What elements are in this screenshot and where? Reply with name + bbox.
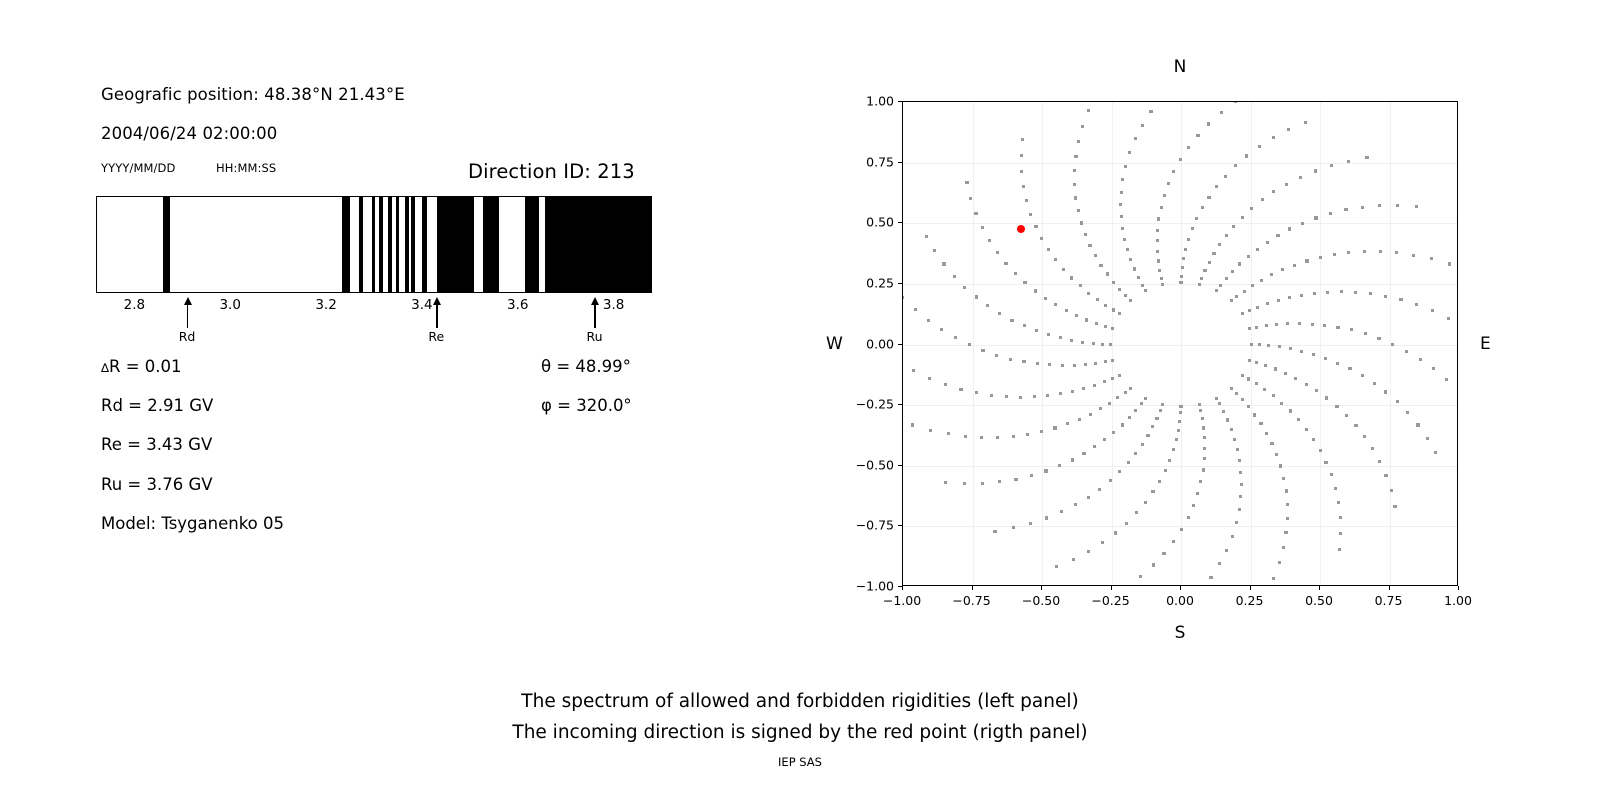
scatter-point — [1319, 256, 1322, 259]
param-delta-r-value: R = 0.01 — [109, 357, 182, 376]
scatter-point — [1301, 222, 1304, 225]
scatter-point — [1036, 362, 1039, 365]
scatter-point — [1195, 217, 1198, 220]
scatter-point — [1282, 477, 1285, 480]
scatter-point — [1109, 479, 1112, 482]
compass-label-north: N — [1174, 57, 1187, 77]
scatter-point — [1141, 284, 1144, 287]
scatter-point — [1085, 318, 1088, 321]
scatter-point — [959, 388, 962, 391]
scatter-point — [1010, 319, 1013, 322]
y-axis-tick-mark — [898, 404, 902, 405]
scatter-point — [1274, 367, 1277, 370]
scatter-point — [1118, 470, 1121, 473]
scatter-point — [1062, 268, 1065, 271]
scatter-point — [1095, 322, 1098, 325]
arrow-up-icon — [433, 297, 441, 305]
scatter-point — [1101, 343, 1104, 346]
spectrum-bar — [96, 196, 652, 293]
scatter-point — [1012, 435, 1015, 438]
spectrum-x-axis: 2.83.03.23.43.63.8RdReRu — [96, 294, 652, 350]
scatter-point — [1119, 203, 1122, 206]
forbidden-band — [422, 197, 427, 292]
scatter-point — [1054, 258, 1057, 261]
scatter-point — [1432, 367, 1435, 370]
scatter-point — [1077, 209, 1080, 212]
arrow-stem — [436, 302, 437, 328]
scatter-point — [1060, 510, 1063, 513]
scatter-point — [1208, 261, 1211, 264]
scatter-point — [1144, 397, 1147, 400]
scatter-point — [1377, 337, 1380, 340]
y-axis-tick-label: −1.00 — [856, 579, 894, 594]
scatter-point — [1235, 392, 1238, 395]
scatter-point — [1311, 323, 1314, 326]
forbidden-band — [545, 197, 652, 292]
scatter-point — [1399, 298, 1402, 301]
scatter-point — [1230, 387, 1233, 390]
forbidden-band — [437, 197, 474, 292]
scatter-point — [964, 435, 967, 438]
scatter-point — [1065, 309, 1068, 312]
scatter-point — [1073, 364, 1076, 367]
scatter-point — [1314, 169, 1317, 172]
scatter-point — [1220, 111, 1223, 114]
scatter-point — [1014, 478, 1017, 481]
scatter-point — [1238, 459, 1241, 462]
scatter-point — [1371, 447, 1374, 450]
scatter-point — [1103, 380, 1106, 383]
scatter-point — [1133, 267, 1136, 270]
scatter-point — [1363, 250, 1366, 253]
spectrum-tick-label: 3.6 — [507, 297, 528, 313]
y-axis-tick-label: −0.75 — [856, 518, 894, 533]
scatter-point — [1089, 413, 1092, 416]
scatter-point — [1448, 262, 1451, 265]
scatter-point — [1445, 378, 1448, 381]
scatter-point — [1239, 471, 1242, 474]
scatter-point — [1181, 266, 1184, 269]
scatter-point — [1384, 390, 1387, 393]
scatter-point — [1175, 438, 1178, 441]
scatter-point — [912, 369, 915, 372]
scatter-point — [1200, 277, 1203, 280]
x-axis-tick-label: 1.00 — [1444, 593, 1472, 608]
x-axis-tick-mark — [1041, 586, 1042, 590]
scatter-point — [1081, 341, 1084, 344]
scatter-point — [1073, 183, 1076, 186]
scatter-point — [1256, 248, 1259, 251]
scatter-point — [1255, 382, 1258, 385]
scatter-point — [1230, 428, 1233, 431]
scatter-point — [1250, 207, 1253, 210]
scatter-point — [1390, 489, 1393, 492]
y-axis-tick-label: −0.25 — [856, 397, 894, 412]
scatter-point — [1361, 374, 1364, 377]
scatter-point — [940, 328, 943, 331]
scatter-point — [1339, 516, 1342, 519]
scatter-point — [929, 429, 932, 432]
scatter-point — [1144, 289, 1147, 292]
scatter-point — [1248, 309, 1251, 312]
scatter-point — [1178, 420, 1181, 423]
scatter-point — [1124, 165, 1127, 168]
scatter-point — [1129, 387, 1132, 390]
scatter-point — [1265, 324, 1268, 327]
arrow-stem — [187, 302, 188, 328]
scatter-point — [1215, 397, 1218, 400]
forbidden-band — [372, 197, 376, 292]
scatter-point — [986, 304, 989, 307]
scatter-point — [996, 436, 999, 439]
scatter-point — [1253, 413, 1256, 416]
scatter-point — [1240, 483, 1243, 486]
y-axis-tick-mark — [898, 465, 902, 466]
date-format-hint: YYYY/MM/DD — [101, 161, 175, 175]
scatter-point — [1415, 303, 1418, 306]
scatter-point — [1304, 121, 1307, 124]
gridline-horizontal — [903, 466, 1457, 467]
scatter-point — [1297, 418, 1300, 421]
compass-label-east: E — [1480, 334, 1491, 354]
scatter-point — [1219, 284, 1222, 287]
scatter-point — [1207, 196, 1210, 199]
scatter-point — [1373, 382, 1376, 385]
forbidden-band — [525, 197, 539, 292]
compass-label-west: W — [826, 334, 843, 354]
scatter-point — [1059, 392, 1062, 395]
scatter-point — [1282, 546, 1285, 549]
forbidden-band — [396, 197, 399, 292]
scatter-point — [1236, 448, 1239, 451]
scatter-point — [1315, 389, 1318, 392]
x-axis-tick-label: 0.00 — [1166, 593, 1194, 608]
scatter-point — [1082, 387, 1085, 390]
scatter-point — [1160, 206, 1163, 209]
scatter-point — [1168, 459, 1171, 462]
scatter-point — [975, 391, 978, 394]
scatter-point — [1071, 458, 1074, 461]
scatter-point — [1104, 360, 1107, 363]
scatter-point — [933, 249, 936, 252]
forbidden-band — [359, 197, 363, 292]
scatter-point — [947, 432, 950, 435]
param-ru: Ru = 3.76 GV — [101, 475, 213, 494]
scatter-point — [1123, 238, 1126, 241]
scatter-point — [1270, 442, 1273, 445]
x-axis-tick-mark — [902, 586, 903, 590]
scatter-point — [1152, 563, 1155, 566]
spectrum-tick-label: 3.8 — [603, 297, 624, 313]
scatter-point — [1272, 394, 1275, 397]
scatter-point — [1198, 283, 1201, 286]
scatter-point — [1156, 239, 1159, 242]
forbidden-band — [411, 197, 414, 292]
scatter-point — [1201, 417, 1204, 420]
x-axis-tick-label: 0.75 — [1375, 593, 1403, 608]
scatter-point — [1066, 422, 1069, 425]
scatter-point — [1289, 409, 1292, 412]
scatter-point — [1179, 411, 1182, 414]
scatter-point — [914, 308, 917, 311]
y-axis-tick-mark — [898, 525, 902, 526]
scatter-point — [1199, 480, 1202, 483]
left-panel: Geografic position: 48.38°N 21.43°E 2004… — [0, 0, 760, 680]
scatter-point — [1305, 428, 1308, 431]
scatter-point — [1151, 425, 1154, 428]
gridline-vertical — [1181, 102, 1182, 585]
scatter-point — [1278, 345, 1281, 348]
incoming-direction-point[interactable] — [1017, 225, 1025, 233]
scatter-point — [1265, 432, 1268, 435]
x-axis-tick-label: 0.50 — [1305, 593, 1333, 608]
scatter-point — [1021, 138, 1024, 141]
spectrum-tick-label: 2.8 — [124, 297, 145, 313]
scatter-point — [1140, 402, 1143, 405]
gridline-horizontal — [903, 345, 1457, 346]
scatter-point — [1022, 185, 1025, 188]
scatter-point — [1234, 101, 1237, 103]
scatter-point — [1034, 289, 1037, 292]
scatter-point — [1226, 418, 1229, 421]
rigidity-marker-ru: Ru — [594, 296, 595, 326]
scatter-point — [975, 295, 978, 298]
scatter-point — [1161, 283, 1164, 286]
scatter-point — [1285, 183, 1288, 186]
scatter-point — [1405, 350, 1408, 353]
scatter-point — [925, 235, 928, 238]
x-axis-tick-label: −0.25 — [1091, 593, 1129, 608]
scatter-point — [1248, 359, 1251, 362]
scatter-point — [1080, 221, 1083, 224]
scatter-point — [1251, 284, 1254, 287]
scatter-point — [988, 239, 991, 242]
scatter-point — [1030, 474, 1033, 477]
scatter-point — [1284, 531, 1287, 534]
scatter-point — [1139, 575, 1142, 578]
scatter-point — [1336, 326, 1339, 329]
scatter-point — [1059, 336, 1062, 339]
scatter-point — [1365, 156, 1368, 159]
marker-label: Ru — [586, 329, 602, 344]
scatter-point — [1233, 438, 1236, 441]
scatter-point — [1096, 298, 1099, 301]
scatter-point — [1155, 417, 1158, 420]
scatter-point — [1256, 306, 1259, 309]
scatter-point — [1231, 270, 1234, 273]
scatter-point — [1187, 146, 1190, 149]
scatter-point — [928, 377, 931, 380]
scatter-point — [1156, 250, 1159, 253]
scatter-point — [1225, 277, 1228, 280]
scatter-point — [1224, 175, 1227, 178]
scatter-point — [1055, 565, 1058, 568]
scatter-point — [1023, 324, 1026, 327]
scatter-point — [1396, 204, 1399, 207]
scatter-point — [1196, 492, 1199, 495]
scatter-point — [1348, 367, 1351, 370]
datetime-text: 2004/06/24 02:00:00 — [101, 124, 277, 143]
scatter-point — [1078, 418, 1081, 421]
scatter-point — [1111, 359, 1114, 362]
scatter-point — [1070, 339, 1073, 342]
scatter-point — [1339, 532, 1342, 535]
param-model: Model: Tsyganenko 05 — [101, 514, 284, 533]
scatter-point — [1361, 206, 1364, 209]
scatter-point — [1276, 234, 1279, 237]
scatter-point — [1087, 496, 1090, 499]
param-delta-r: ∆R = 0.01 — [101, 357, 182, 376]
scatter-point — [1272, 577, 1275, 580]
scatter-point — [1058, 464, 1061, 467]
scatter-point — [1199, 409, 1202, 412]
scatter-point — [1098, 488, 1101, 491]
scatter-point — [1215, 185, 1218, 188]
marker-label: Rd — [179, 329, 196, 344]
scatter-point — [1111, 327, 1114, 330]
scatter-point — [1134, 452, 1137, 455]
scatter-point — [1218, 402, 1221, 405]
scatter-point — [1395, 251, 1398, 254]
scatter-point — [963, 286, 966, 289]
scatter-point — [1129, 258, 1132, 261]
scatter-point — [1125, 522, 1128, 525]
x-axis-tick-mark — [1250, 586, 1251, 590]
figure-caption: The spectrum of allowed and forbidden ri… — [0, 686, 1600, 748]
scatter-point — [1285, 489, 1288, 492]
scatter-point — [1270, 273, 1273, 276]
scatter-point — [1235, 521, 1238, 524]
scatter-point — [1336, 362, 1339, 365]
scatter-point — [1333, 253, 1336, 256]
scatter-point — [1082, 452, 1085, 455]
scatter-point — [1172, 448, 1175, 451]
scatter-point — [1029, 522, 1032, 525]
scatter-point — [1299, 176, 1302, 179]
x-axis-tick-label: −0.75 — [952, 593, 990, 608]
scatter-point — [1378, 204, 1381, 207]
scatter-point — [1434, 451, 1437, 454]
scatter-point — [1012, 526, 1015, 529]
scatter-point — [1266, 241, 1269, 244]
scatter-point — [1072, 558, 1075, 561]
scatter-point — [1112, 281, 1115, 284]
scatter-point — [1426, 437, 1429, 440]
scatter-point — [1275, 323, 1278, 326]
x-axis-tick-mark — [1180, 586, 1181, 590]
scatter-point — [1112, 308, 1115, 311]
scatter-point — [1141, 443, 1144, 446]
scatter-point — [1230, 299, 1233, 302]
scatter-point — [953, 275, 956, 278]
scatter-point — [1047, 333, 1050, 336]
scatter-point — [1101, 541, 1104, 544]
scatter-plot-area — [902, 101, 1458, 586]
scatter-point — [1134, 409, 1137, 412]
compass-label-south: S — [1175, 623, 1186, 643]
scatter-point — [1312, 353, 1315, 356]
scatter-point — [1258, 145, 1261, 148]
scatter-point — [1286, 322, 1289, 325]
scatter-point — [1134, 137, 1137, 140]
scatter-point — [1324, 461, 1327, 464]
scatter-point — [1300, 294, 1303, 297]
scatter-point — [1104, 304, 1107, 307]
scatter-point — [1345, 414, 1348, 417]
scatter-point — [1248, 327, 1251, 330]
caption-line-1: The spectrum of allowed and forbidden ri… — [0, 686, 1600, 717]
x-axis-tick-mark — [1389, 586, 1390, 590]
delta-symbol: ∆ — [101, 361, 109, 375]
scatter-point — [1201, 206, 1204, 209]
y-axis-tick-mark — [898, 162, 902, 163]
scatter-point — [1121, 227, 1124, 230]
scatter-point — [980, 436, 983, 439]
marker-label: Re — [428, 329, 444, 344]
scatter-point — [1108, 402, 1111, 405]
scatter-point — [1261, 198, 1264, 201]
scatter-point — [998, 312, 1001, 315]
scatter-point — [1203, 457, 1206, 460]
scatter-point — [1275, 453, 1278, 456]
scatter-point — [1430, 257, 1433, 260]
scatter-point — [902, 296, 904, 299]
scatter-point — [1158, 480, 1161, 483]
scatter-point — [1287, 128, 1290, 131]
scatter-point — [1266, 302, 1269, 305]
scatter-point — [1124, 294, 1127, 297]
scatter-point — [1289, 347, 1292, 350]
scatter-point — [1009, 358, 1012, 361]
scatter-point — [1419, 358, 1422, 361]
scatter-point — [1354, 291, 1357, 294]
scatter-point — [1172, 540, 1175, 543]
scatter-point — [1084, 233, 1087, 236]
scatter-point — [1167, 182, 1170, 185]
scatter-point — [1187, 238, 1190, 241]
scatter-point — [1264, 364, 1267, 367]
forbidden-band — [388, 197, 392, 292]
rigidity-spectrum-chart — [96, 196, 652, 293]
y-axis-tick-label: 0.75 — [866, 154, 894, 169]
x-axis-tick-mark — [1111, 586, 1112, 590]
scatter-point — [1005, 395, 1008, 398]
caption-line-2: The incoming direction is signed by the … — [0, 717, 1600, 748]
scatter-point — [1004, 262, 1007, 265]
scatter-point — [1118, 374, 1121, 377]
scatter-point — [1022, 360, 1025, 363]
scatter-point — [1350, 328, 1353, 331]
scatter-point — [1144, 501, 1147, 504]
scatter-point — [996, 251, 999, 254]
scatter-point — [1288, 296, 1291, 299]
scatter-point — [1344, 208, 1347, 211]
scatter-point — [1177, 429, 1180, 432]
scatter-point — [1279, 464, 1282, 467]
scatter-point — [1212, 252, 1215, 255]
scatter-point — [1281, 268, 1284, 271]
scatter-point — [1202, 426, 1205, 429]
scatter-point — [981, 482, 984, 485]
scatter-point — [1202, 468, 1205, 471]
scatter-point — [1025, 199, 1028, 202]
arrow-stem — [594, 302, 595, 328]
scatter-point — [1092, 342, 1095, 345]
spectrum-tick-label: 3.0 — [219, 297, 240, 313]
scatter-point — [1215, 289, 1218, 292]
scatter-point — [1245, 154, 1248, 157]
spectrum-tick-label: 3.2 — [315, 297, 336, 313]
